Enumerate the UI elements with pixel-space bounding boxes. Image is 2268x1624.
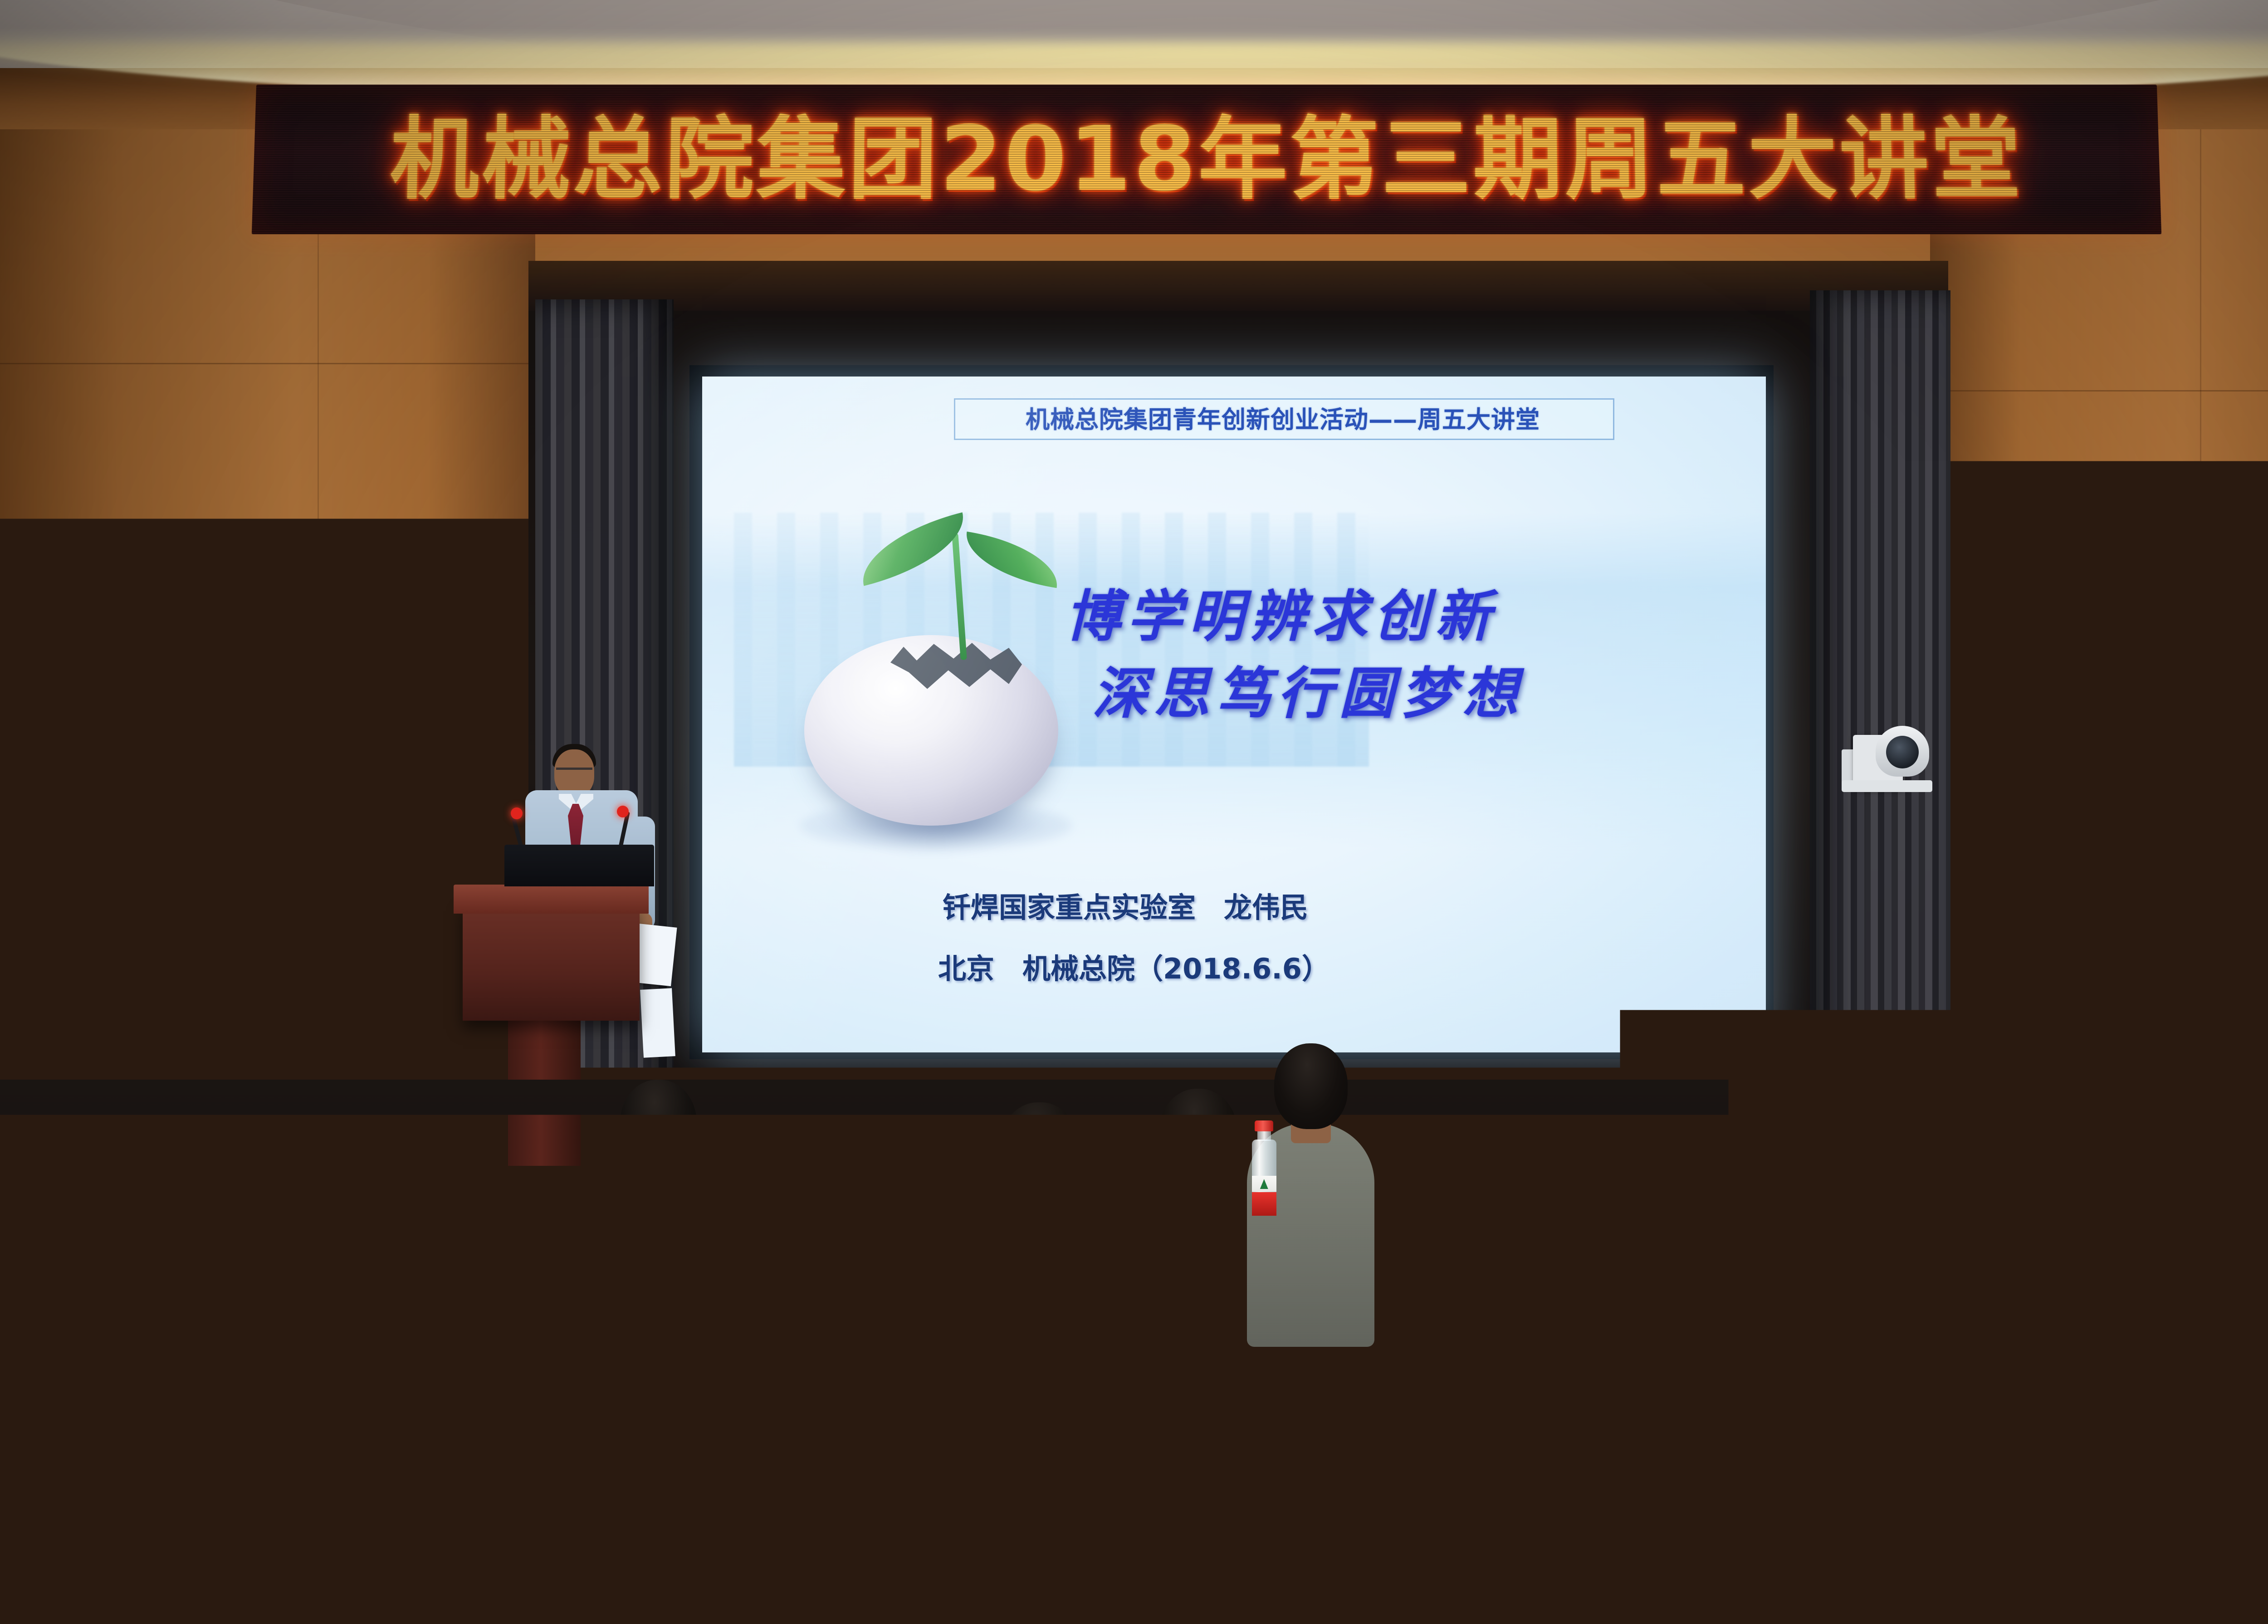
audience-member [2214, 1125, 2268, 1504]
water-bottle [1252, 1120, 1276, 1216]
bottle-label-lower [1955, 1163, 1979, 1186]
right-wall-wood [1930, 68, 2268, 1189]
wood-seam [0, 708, 535, 709]
bottle-brand-text: 农夫山泉 [331, 1381, 363, 1413]
stage-recess-header [528, 261, 1948, 311]
left-wall-wood [0, 68, 535, 1189]
audience-member [2041, 1080, 2199, 1431]
bottle-label-lower [1808, 1172, 1831, 1195]
audience-head [1274, 1043, 1348, 1129]
water-bottle [962, 1125, 986, 1220]
audience-head [2253, 1125, 2268, 1233]
bottle-brand-text: 农夫山泉 [1941, 1452, 1976, 1485]
audience-head [2077, 1080, 2163, 1179]
podium-body [463, 903, 640, 1021]
bottle-cap [1255, 1120, 1273, 1131]
bottle-cap [1699, 1102, 1717, 1113]
microphone-indicator-light [617, 806, 629, 817]
bottle-cap [2186, 1334, 2212, 1350]
water-bottle: 农夫山泉 [1309, 1465, 1346, 1610]
bottle-brand-text: 农夫山泉 [1567, 1332, 1595, 1359]
microphone-indicator-light [511, 807, 523, 819]
wood-seam [1930, 390, 2268, 391]
projection-screen: 机械总院集团青年创新创业活动——周五大讲堂 博学明辨求创新 深思笃行圆梦想 钎焊… [702, 377, 1766, 1052]
audience-member [966, 1102, 1113, 1430]
ptz-camera-mount [1842, 780, 1932, 792]
audience-member [587, 1080, 729, 1397]
water-bottle [1696, 1102, 1720, 1195]
bottle-label-lower [1390, 1194, 1415, 1218]
audience-shirt [591, 1163, 725, 1397]
ptz-camera-lens-icon [1886, 736, 1919, 768]
wood-seam [2200, 129, 2201, 1189]
bottle-brand-text: 农夫山泉 [25, 1257, 54, 1285]
audience-shirt [377, 1296, 549, 1595]
audience-head [73, 1220, 202, 1371]
bottle-cap [1958, 1093, 1976, 1104]
wood-seam [318, 129, 319, 1189]
audience-head [1158, 1089, 1238, 1181]
audience-head [620, 1080, 697, 1169]
bottle-cap [1570, 1243, 1592, 1256]
water-bottle [1955, 1093, 1979, 1186]
auditorium-photo: 机械总院集团2018年第三期周五大讲堂 机械总院集团青年创新创业活动——周五大讲… [0, 0, 2268, 1624]
bottle-label-lower [1696, 1172, 1720, 1195]
audience-head [1000, 1102, 1079, 1195]
water-bottle: 农夫山泉 [2182, 1334, 2217, 1470]
water-bottle: 农夫山泉 [558, 1465, 595, 1610]
slide-slogan-line-2: 深思笃行圆梦想 [1092, 649, 1524, 729]
bottle-cap [562, 1465, 591, 1482]
slide-header-text: 机械总院集团青年创新创业活动——周五大讲堂 [954, 398, 1612, 437]
slide-slogan-line-1: 博学明辨求创新 [1065, 572, 1497, 652]
bottle-cap [335, 1279, 360, 1294]
led-scanline-overlay [252, 85, 2161, 235]
bottle-brand-text: 农夫山泉 [1882, 1309, 1911, 1336]
water-bottle: 农夫山泉 [1882, 1220, 1911, 1331]
paper-sheet [1401, 1441, 1488, 1475]
bottle-cap [29, 1166, 50, 1179]
water-bottle: 农夫山泉 [25, 1166, 54, 1279]
water-bottle: 农夫山泉 [803, 1302, 832, 1415]
glasses-icon [2248, 1185, 2268, 1190]
water-bottle [1808, 1102, 1831, 1195]
water-bottle: 农夫山泉 [331, 1279, 363, 1406]
wood-seam [1930, 653, 2268, 655]
bottle-cap [1313, 1465, 1341, 1482]
audience-shirt [971, 1189, 1109, 1430]
bottle-cap [1393, 1120, 1413, 1132]
laptop-screen [504, 845, 654, 886]
chair [2019, 1492, 2268, 1624]
audience-head [414, 1189, 512, 1304]
audience-shirt [2219, 1225, 2268, 1504]
bottle-brand-text: 农夫山泉 [1309, 1581, 1346, 1618]
stage-curtain-right [1810, 290, 1950, 1111]
bottle-cap [1810, 1102, 1828, 1113]
bottle-label-lower [1252, 1192, 1276, 1216]
handout-paper [640, 988, 675, 1057]
glasses-icon [556, 768, 592, 777]
audience-shirt [2046, 1172, 2194, 1431]
bottle-cap [964, 1125, 983, 1136]
audience-member [195, 1207, 396, 1624]
audience-shirt [1673, 1136, 1807, 1370]
bottle-cap [1886, 1220, 1907, 1233]
podium-top [454, 885, 649, 914]
bottle-brand-text: 农夫山泉 [803, 1393, 832, 1421]
water-bottle: 农夫山泉 [1567, 1243, 1595, 1354]
bottle-label-lower [962, 1197, 986, 1221]
bottle-cap [807, 1302, 828, 1315]
audience-member [1669, 1052, 1811, 1370]
bottle-cap [1945, 1343, 1972, 1359]
water-bottle [1390, 1120, 1415, 1218]
bottle-brand-text: 农夫山泉 [558, 1581, 595, 1618]
ponytail [751, 1203, 778, 1350]
slide-credit-line-2: 北京 机械总院（2018.6.6） [938, 946, 1330, 987]
water-bottle: 农夫山泉 [1941, 1343, 1976, 1479]
slide-credit-line-1: 钎焊国家重点实验室 龙伟民 [943, 885, 1308, 925]
bottle-brand-text: 农夫山泉 [2182, 1443, 2217, 1476]
wood-seam [0, 363, 535, 364]
